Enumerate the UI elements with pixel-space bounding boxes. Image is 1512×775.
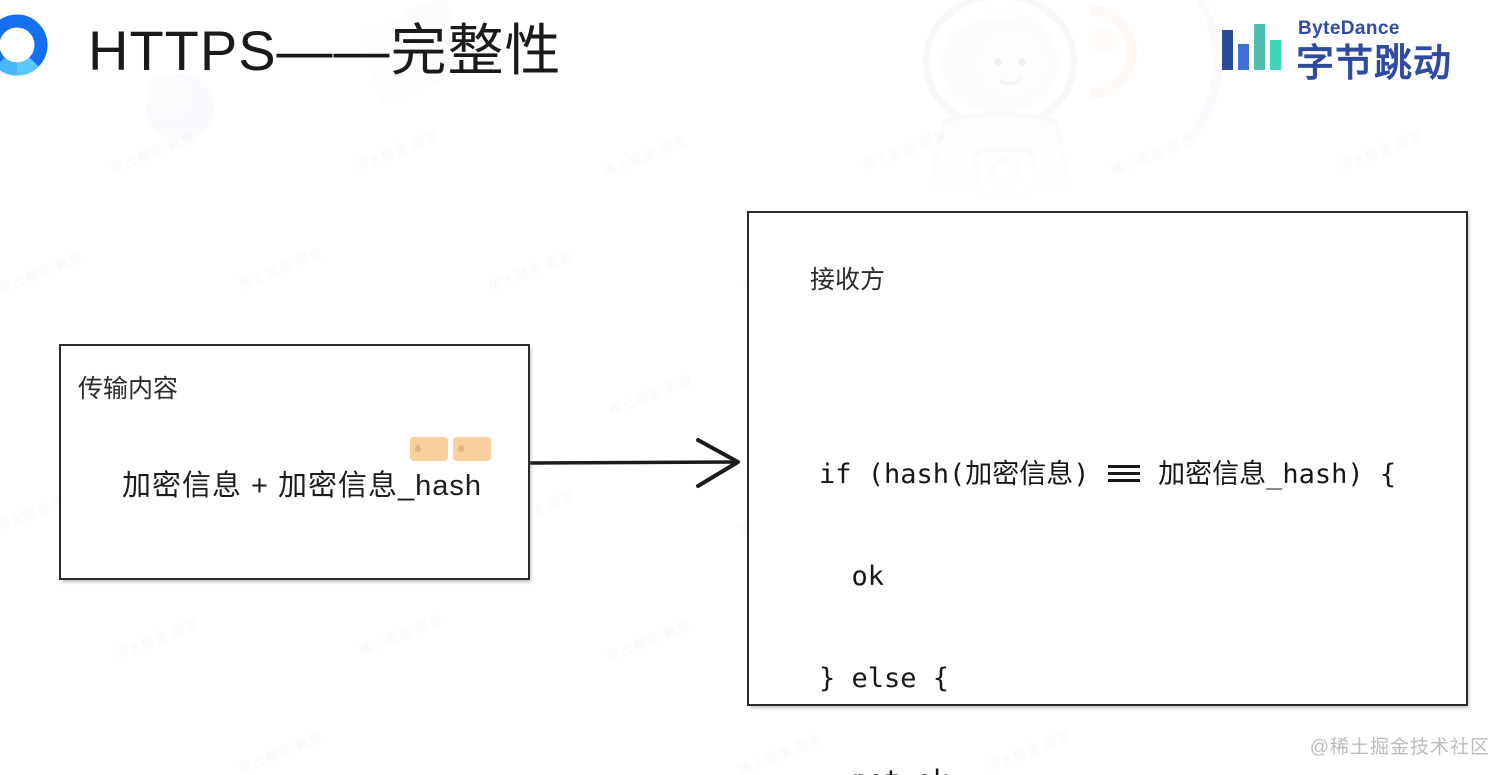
svg-text:字节跳动: 字节跳动 xyxy=(1296,43,1452,85)
code-line-1: if (hash(加密信息) 加密信息_hash) { xyxy=(819,458,1396,492)
code-line-1-suffix: 加密信息_hash) { xyxy=(1142,459,1396,490)
code-line-3: } else { xyxy=(819,662,1396,696)
watermark-tile: 稀土掘金 掘金 xyxy=(236,726,325,775)
receiver-code-block: if (hash(加密信息) 加密信息_hash) { ok } else { … xyxy=(819,390,1396,775)
code-line-2: ok xyxy=(819,560,1396,594)
receiver-box: 接收方 if (hash(加密信息) 加密信息_hash) { ok } els… xyxy=(747,211,1468,706)
left-box-label: 传输内容 xyxy=(78,372,178,406)
bytedance-logo: ByteDance 字节跳动 xyxy=(1216,12,1492,86)
right-box-label: 接收方 xyxy=(810,263,885,297)
tag-icon xyxy=(410,437,448,461)
watermark-tile: 稀土掘金 掘金 xyxy=(486,244,575,295)
watermark-tile: 稀土掘金 掘金 xyxy=(604,614,693,665)
page-title: HTTPS——完整性 xyxy=(88,14,562,88)
slide-canvas: 稀土掘金 掘金 稀土掘金 掘金 稀土掘金 掘金 稀土掘金 掘金 稀土掘金 掘金 … xyxy=(0,0,1512,775)
watermark-tile: 稀土掘金 掘金 xyxy=(356,608,445,659)
svg-text:ByteDance: ByteDance xyxy=(1298,18,1400,39)
code-line-4: not ok xyxy=(819,764,1396,775)
tag-icon xyxy=(453,437,491,461)
watermark-tile: 稀土掘金 掘金 xyxy=(112,612,201,663)
orange-tag-annotations xyxy=(410,437,491,461)
watermark-tile: 稀土掘金 掘金 xyxy=(0,246,85,297)
juejin-ring-logo-icon xyxy=(0,14,48,76)
transmission-content-box: 传输内容 加密信息 + 加密信息_hash xyxy=(59,344,530,580)
strict-equality-operator-icon xyxy=(1106,465,1142,485)
watermark-tile: 稀土掘金 掘金 xyxy=(236,242,325,293)
left-box-content: 加密信息 + 加密信息_hash xyxy=(122,466,482,506)
watermark-tile: 稀土掘金 掘金 xyxy=(606,368,695,419)
footer-watermark: @稀土掘金技术社区 xyxy=(1310,732,1490,759)
transmission-arrow xyxy=(528,432,754,494)
code-line-1-prefix: if (hash(加密信息) xyxy=(819,459,1106,490)
watermark-tile: 稀土掘金 掘金 xyxy=(736,728,825,775)
bytedance-bars-icon xyxy=(1222,24,1281,70)
